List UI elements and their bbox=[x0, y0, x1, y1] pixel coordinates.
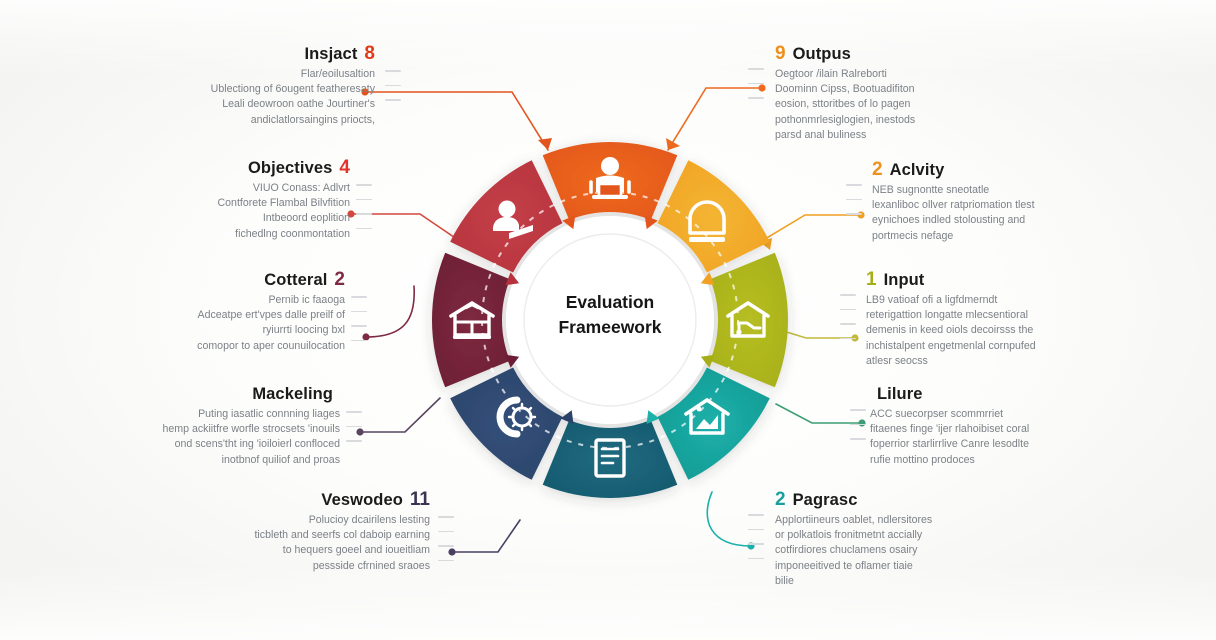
label-line: comopor to aper counuilocation bbox=[45, 339, 345, 354]
label-title: Objectives bbox=[248, 159, 332, 178]
label-title: Lilure bbox=[877, 385, 923, 404]
label-head: 2 Pagrasc bbox=[775, 490, 1055, 510]
label-line: pothonmrlesiglogien, inestods bbox=[775, 113, 1065, 128]
label-line: pessside cfrnined sraoes bbox=[115, 559, 430, 574]
label-title: Outpus bbox=[793, 45, 851, 64]
label-line: Ublectiong of 6ougent featheresaty bbox=[100, 82, 375, 97]
label-number: 1 bbox=[866, 270, 877, 289]
label-line: or polkatlois fronitmetnt accially bbox=[775, 528, 1055, 543]
label-number: 8 bbox=[364, 44, 375, 63]
label-head: 2 Aclvity bbox=[872, 160, 1132, 180]
label-impact[interactable]: Insjact 8 Flar/eoilusaltion Ublectiong o… bbox=[100, 44, 375, 128]
label-line: Adceatpe ert'vpes dalle preilf of bbox=[45, 308, 345, 323]
label-dashes bbox=[846, 184, 862, 228]
label-body: Puting iasatlic connning liages hemp ack… bbox=[20, 407, 340, 468]
label-body: NEB sugnontte sneotatle lexanliboc ollve… bbox=[872, 183, 1132, 244]
label-dashes bbox=[356, 184, 372, 242]
label-line: Oegtoor /ilain Ralreborti bbox=[775, 67, 1065, 82]
label-line: portmecis nefage bbox=[872, 229, 1132, 244]
label-line: Leali deowroon oathe Jourtiner's bbox=[100, 97, 375, 112]
infographic-canvas: Evaluation Frameework Insjact 8 Flar/eoi… bbox=[0, 0, 1216, 640]
label-title: Insjact bbox=[304, 45, 357, 64]
segment-failure[interactable] bbox=[543, 420, 678, 498]
label-line: Contforete Flambal Bilvfition bbox=[60, 196, 350, 211]
label-dashes bbox=[748, 514, 764, 572]
label-line: demenis in keed oiols decoirsss the bbox=[866, 323, 1136, 338]
label-number: 2 bbox=[775, 490, 786, 509]
label-line: eynichoes indled stolousting and bbox=[872, 213, 1132, 228]
label-line: andiclatlorsaingins priocts, bbox=[100, 113, 375, 128]
label-line: LB9 vatioaf ofi a ligfdmerndt bbox=[866, 293, 1136, 308]
label-line: Polucioy dcairilens lesting bbox=[115, 513, 430, 528]
label-dashes bbox=[748, 68, 764, 112]
label-line: ryiurrti loocing bxl bbox=[45, 323, 345, 338]
label-line: ticbleth and seerfs col daboip earning bbox=[115, 528, 430, 543]
label-head: Mackeling bbox=[20, 385, 340, 404]
label-number: 11 bbox=[410, 490, 430, 509]
label-dashes bbox=[850, 409, 866, 453]
label-title: Input bbox=[884, 271, 925, 290]
label-mackeling[interactable]: Mackeling Puting iasatlic connning liage… bbox=[20, 385, 340, 468]
label-title: Veswodeo bbox=[321, 491, 403, 510]
label-line: inotbnof quiliof and proas bbox=[20, 453, 340, 468]
label-line: imponeeitived te oflamer tiaie bbox=[775, 559, 1055, 574]
label-line: VIUO Conass: Adlvrt bbox=[60, 181, 350, 196]
segment-activity[interactable] bbox=[710, 253, 788, 388]
label-activity[interactable]: 2 Aclvity NEB sugnontte sneotatle lexanl… bbox=[872, 160, 1132, 244]
label-line: Puting iasatlic connning liages bbox=[20, 407, 340, 422]
label-line: NEB sugnontte sneotatle bbox=[872, 183, 1132, 198]
label-line: hemp ackiitfre worfle strocsets 'inouils bbox=[20, 422, 340, 437]
label-line: fitaenes finge 'ijer rlahoibiset coral bbox=[870, 422, 1140, 437]
label-line: to hequers goeel and ioueitliam bbox=[115, 543, 430, 558]
label-body: Pernib ic faaoga Adceatpe ert'vpes dalle… bbox=[45, 293, 345, 354]
label-line: reterigattion longatte mlecsentioral bbox=[866, 308, 1136, 323]
label-line: foperrior starlirrlive Canre lesodlte bbox=[870, 437, 1140, 452]
label-number: 9 bbox=[775, 44, 786, 63]
label-line: inchistalpent engetmenlal cornpufed bbox=[866, 339, 1136, 354]
label-head: Objectives 4 bbox=[60, 158, 350, 178]
label-title: Pagrasc bbox=[793, 491, 858, 510]
label-head: 1 Input bbox=[866, 270, 1136, 290]
label-outpus[interactable]: 9 Outpus Oegtoor /ilain Ralreborti Doomi… bbox=[775, 44, 1065, 143]
label-dashes bbox=[346, 411, 362, 455]
segment-video[interactable] bbox=[432, 253, 510, 388]
label-line: Applortiineurs oablet, ndlersitores bbox=[775, 513, 1055, 528]
label-line: ond scens'tht ing 'ioiloierl confloced bbox=[20, 437, 340, 452]
label-line: ACC suecorpser scommrriet bbox=[870, 407, 1140, 422]
label-head: Cotteral 2 bbox=[45, 270, 345, 290]
label-line: bilie bbox=[775, 574, 1055, 589]
label-head: 9 Outpus bbox=[775, 44, 1065, 64]
label-line: atlesr seocss bbox=[866, 354, 1136, 369]
label-veswodeo[interactable]: Veswodeo 11 Polucioy dcairilens lesting … bbox=[115, 490, 430, 574]
label-number: 2 bbox=[334, 270, 345, 289]
label-line: Pernib ic faaoga bbox=[45, 293, 345, 308]
label-body: Applortiineurs oablet, ndlersitores or p… bbox=[775, 513, 1055, 589]
label-title: Aclvity bbox=[890, 161, 945, 180]
label-head: Lilure bbox=[870, 385, 1140, 404]
label-head: Insjact 8 bbox=[100, 44, 375, 64]
label-line: parsd anal buliness bbox=[775, 128, 1065, 143]
label-number: 2 bbox=[872, 160, 883, 179]
label-title: Cotteral bbox=[264, 271, 327, 290]
label-input[interactable]: 1 Input LB9 vatioaf ofi a ligfdmerndt re… bbox=[866, 270, 1136, 369]
label-body: Flar/eoilusaltion Ublectiong of 6ougent … bbox=[100, 67, 375, 128]
label-body: LB9 vatioaf ofi a ligfdmerndt reterigatt… bbox=[866, 293, 1136, 369]
label-head: Veswodeo 11 bbox=[115, 490, 430, 510]
label-pagrasc[interactable]: 2 Pagrasc Applortiineurs oablet, ndlersi… bbox=[775, 490, 1055, 589]
label-objectives[interactable]: Objectives 4 VIUO Conass: Adlvrt Contfor… bbox=[60, 158, 350, 242]
label-body: Oegtoor /ilain Ralreborti Doominn Cipss,… bbox=[775, 67, 1065, 143]
label-line: rufie mottino prodoces bbox=[870, 453, 1140, 468]
label-line: fichedlng coonmontation bbox=[60, 227, 350, 242]
label-line: cotfirdiores chuclamens osairy bbox=[775, 543, 1055, 558]
label-title: Mackeling bbox=[252, 385, 333, 404]
label-cotteral[interactable]: Cotteral 2 Pernib ic faaoga Adceatpe ert… bbox=[45, 270, 345, 354]
label-body: ACC suecorpser scommrriet fitaenes finge… bbox=[870, 407, 1140, 468]
label-body: VIUO Conass: Adlvrt Contforete Flambal B… bbox=[60, 181, 350, 242]
label-line: Intbeoord eoplition bbox=[60, 211, 350, 226]
label-line: Doominn Cipss, Bootuadifiton bbox=[775, 82, 1065, 97]
hub-disc bbox=[524, 234, 696, 406]
label-lilure[interactable]: Lilure ACC suecorpser scommrriet fitaene… bbox=[870, 385, 1140, 468]
label-dashes bbox=[438, 516, 454, 574]
label-line: lexanliboc ollver ratpriomation tlest bbox=[872, 198, 1132, 213]
label-dashes bbox=[351, 296, 367, 354]
label-dashes bbox=[385, 70, 401, 114]
label-line: eosion, sttoritbes of lo pagen bbox=[775, 97, 1065, 112]
label-number: 4 bbox=[339, 158, 350, 177]
label-line: Flar/eoilusaltion bbox=[100, 67, 375, 82]
label-body: Polucioy dcairilens lesting ticbleth and… bbox=[115, 513, 430, 574]
label-dashes bbox=[840, 294, 856, 352]
